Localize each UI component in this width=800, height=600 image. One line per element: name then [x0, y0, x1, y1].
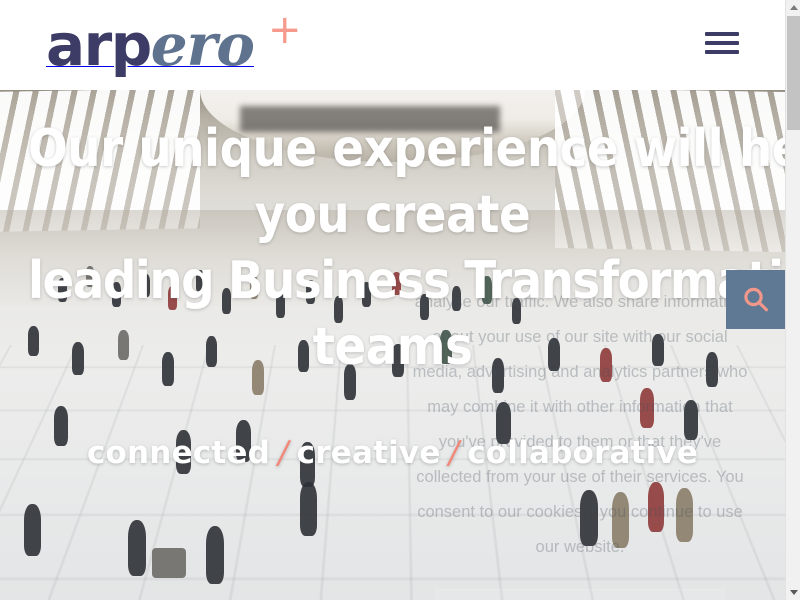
crowd-figure: [152, 548, 186, 578]
hero-headline: Our unique experience will help you crea…: [0, 116, 785, 380]
hero-headline-line-1: Our unique experience will help: [28, 116, 757, 182]
tagline-item-collaborative: collaborative: [467, 435, 698, 471]
cookie-accept-button[interactable]: I ACCEPT: [435, 589, 725, 600]
crowd-figure: [128, 520, 146, 576]
hamburger-bar: [705, 32, 739, 36]
hamburger-menu-icon[interactable]: [705, 30, 739, 56]
tagline-separator: /: [441, 435, 468, 471]
logo-text-bold: arp: [46, 11, 151, 79]
site-logo[interactable]: arpero +: [46, 16, 254, 74]
scroll-up-arrow-icon[interactable]: [786, 0, 800, 15]
search-icon: [741, 285, 771, 315]
logo-text-italic: ero: [151, 11, 254, 79]
hero-headline-line-3: leading Business Transformation: [28, 248, 757, 314]
crowd-figure: [24, 504, 41, 556]
tagline-item-creative: creative: [297, 435, 441, 471]
crowd-figure: [300, 482, 317, 536]
hamburger-bar: [705, 41, 739, 45]
tagline-item-connected: connected: [87, 435, 270, 471]
logo-plus-icon: +: [268, 10, 302, 50]
hero-section: analyse our traffic. We also share infor…: [0, 90, 785, 600]
hero-headline-line-2: you create: [28, 182, 757, 248]
crowd-figure: [206, 526, 224, 584]
hero-headline-line-4: teams: [28, 314, 757, 380]
tagline-separator: /: [270, 435, 297, 471]
hamburger-bar: [705, 50, 739, 54]
page-content: analyse our traffic. We also share infor…: [0, 0, 785, 600]
cookie-consent-line-4: may combine it with other information th…: [405, 390, 755, 425]
scroll-thumb[interactable]: [787, 16, 800, 130]
site-header: arpero +: [0, 0, 785, 90]
search-button[interactable]: [726, 270, 785, 329]
cookie-consent-line-7: consent to our cookies if you continue t…: [405, 495, 755, 530]
cookie-consent-line-8: our website.: [405, 530, 755, 565]
browser-viewport: analyse our traffic. We also share infor…: [0, 0, 800, 600]
vertical-scrollbar[interactable]: [785, 0, 800, 600]
hero-tagline: connected/creative/collaborative: [0, 435, 785, 471]
scroll-down-arrow-icon[interactable]: [786, 585, 800, 600]
